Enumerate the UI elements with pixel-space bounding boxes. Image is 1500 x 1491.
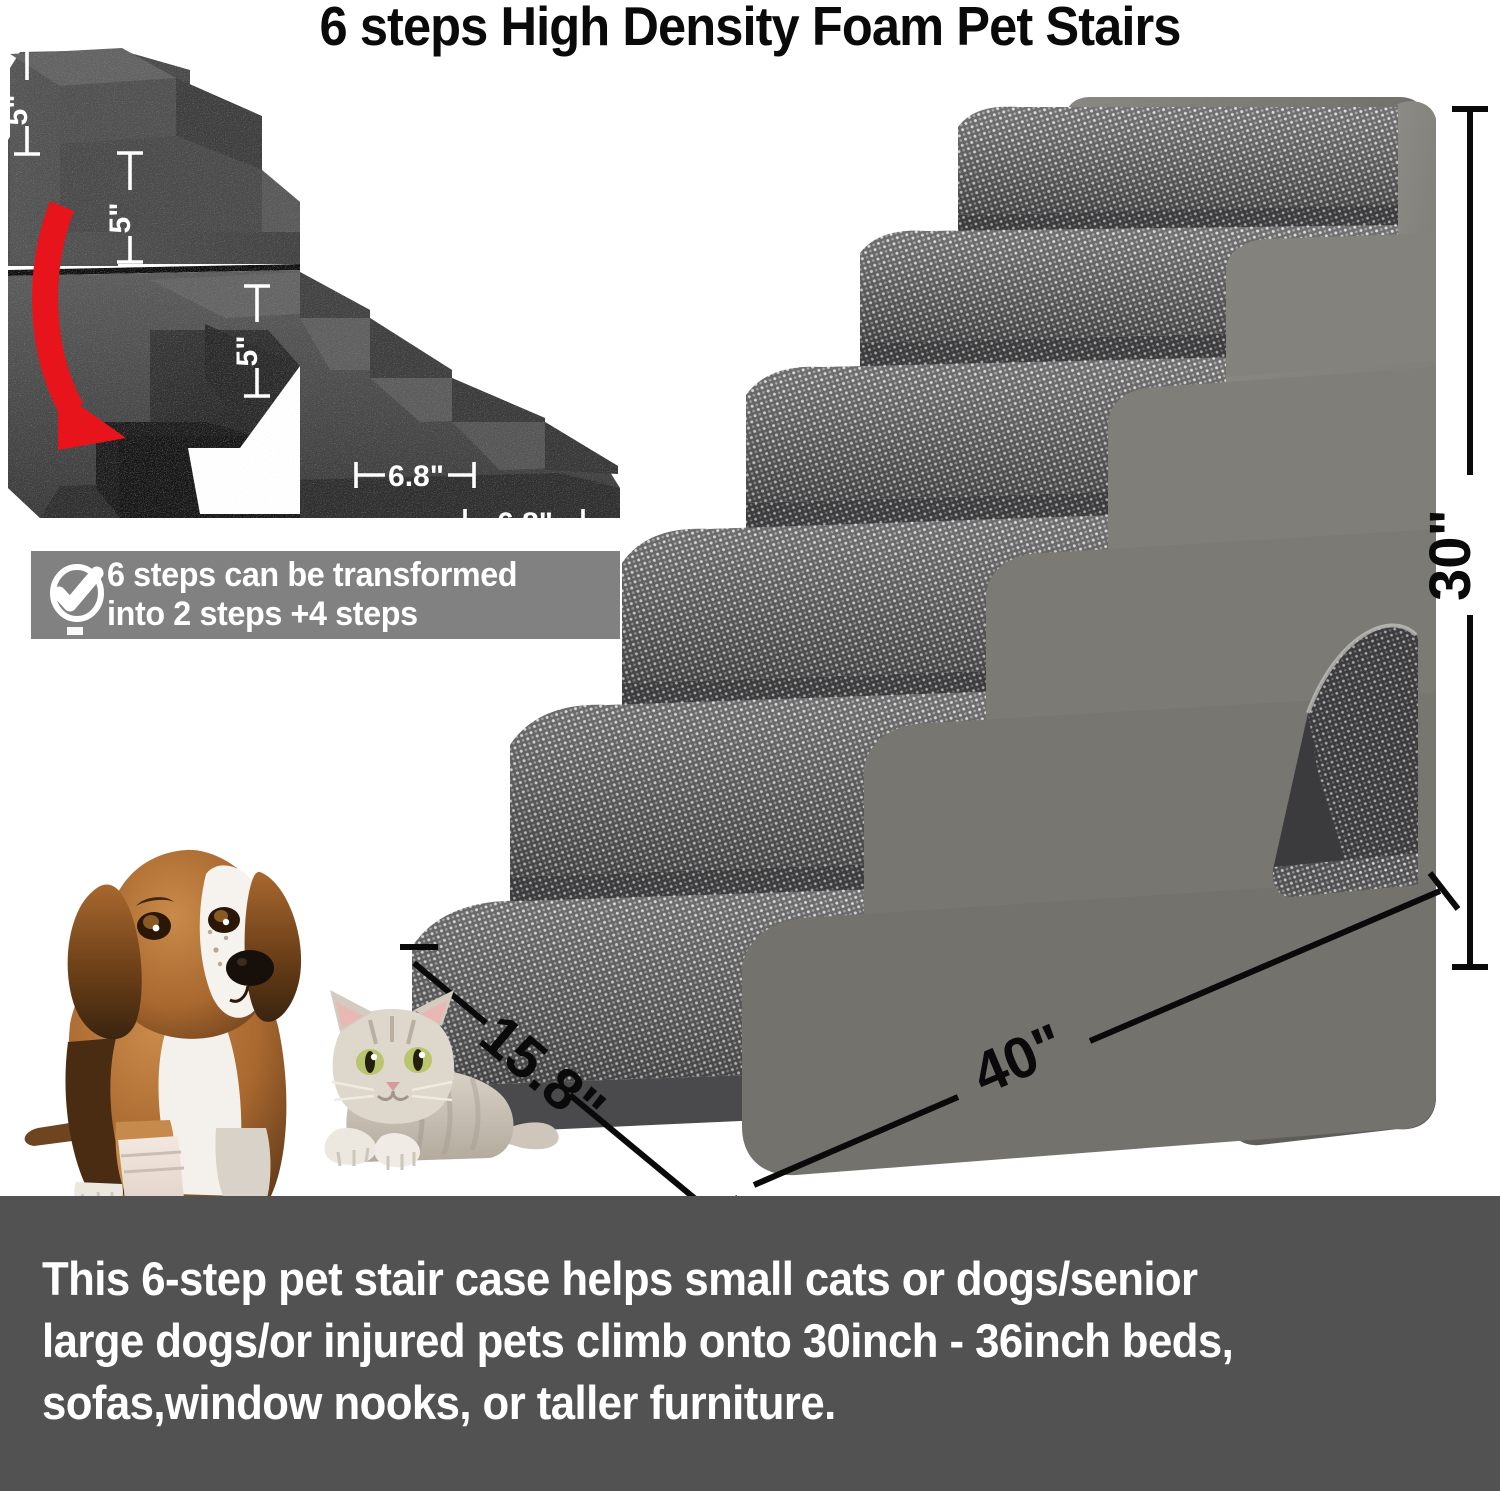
- description-line1: This 6-step pet stair case helps small c…: [42, 1248, 1363, 1310]
- dog-illustration: [25, 850, 301, 1229]
- description-banner: This 6-step pet stair case helps small c…: [0, 1196, 1500, 1491]
- cat-illustration: [324, 990, 558, 1170]
- description-line3: sofas,window nooks, or taller furniture.: [42, 1372, 1363, 1434]
- dimension-label-30in: 30": [1418, 509, 1483, 601]
- description-text: This 6-step pet stair case helps small c…: [42, 1248, 1363, 1434]
- check-circle-icon: [37, 555, 109, 635]
- product-infographic: 6 steps High Density Foam Pet Stairs: [0, 0, 1500, 1491]
- description-line2: large dogs/or injured pets climb onto 30…: [42, 1310, 1363, 1372]
- dimension-label-5in-1: 5": [1, 95, 34, 126]
- dimension-label-5in-2: 5": [104, 203, 137, 234]
- pets-photo-group: [20, 810, 580, 1230]
- dimension-label-5in-3: 5": [231, 336, 264, 367]
